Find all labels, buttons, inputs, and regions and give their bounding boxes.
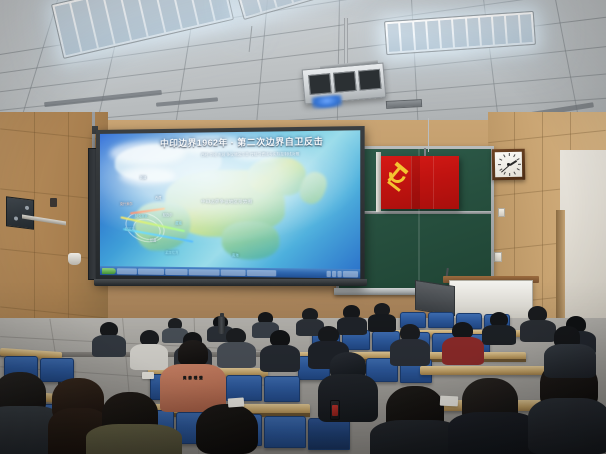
- power-outlet-lower[interactable]: [494, 252, 502, 262]
- party-flag: [381, 156, 459, 209]
- taskbar-item-3[interactable]: [165, 268, 187, 274]
- map-label-6: 克什米尔: [120, 202, 133, 206]
- map-label-4: 印度: [150, 239, 156, 243]
- smartphone[interactable]: [330, 400, 340, 420]
- notebook-paper[interactable]: [440, 396, 458, 407]
- wall-control-panel[interactable]: [6, 196, 34, 229]
- water-bottle[interactable]: [218, 316, 225, 334]
- taskbar-item-2[interactable]: [138, 268, 164, 274]
- map-label-3: 拉达克: [125, 227, 135, 231]
- taskbar-item-6[interactable]: [247, 269, 277, 276]
- shirt-text-line-3: 真 实 想 法: [168, 376, 218, 381]
- map-label-9: 南海: [232, 254, 239, 258]
- map-label-2: 阿克赛钦: [135, 214, 148, 218]
- system-tray[interactable]: [327, 270, 359, 277]
- clock-hour-hand: [509, 159, 517, 165]
- slide-title: 中印边界1962年 · 第二次边界自卫反击: [160, 134, 323, 148]
- map-label-1: 西藏: [155, 196, 161, 200]
- slide-subtitle: 西段 中段 东段 争议地区示意 传统习惯线与实际控制线对照: [201, 152, 300, 159]
- projected-slide: 新疆 西藏 阿克赛钦 拉达克 印度 藏南 克什米尔 尼泊尔 孟加拉湾 南海 中印…: [100, 130, 360, 278]
- projector-mount-pole: [344, 18, 348, 64]
- flag-hanging-wire: [428, 118, 429, 152]
- wall-clock: [492, 149, 526, 181]
- start-button[interactable]: [102, 268, 116, 274]
- map-label-0: 新疆: [140, 176, 146, 180]
- wall-knob[interactable]: [50, 198, 57, 207]
- taskbar-item-4[interactable]: [189, 269, 220, 276]
- notebook-paper[interactable]: [142, 372, 154, 379]
- lecture-hall-scene: 新疆 西藏 阿克赛钦 拉达克 印度 藏南 克什米尔 尼泊尔 孟加拉湾 南海 中印…: [0, 0, 606, 454]
- hammer-and-sickle-icon: [388, 164, 414, 190]
- seat[interactable]: [428, 312, 454, 328]
- seat[interactable]: [226, 375, 262, 401]
- notebook-paper[interactable]: [228, 397, 245, 407]
- projection-screen: 新疆 西藏 阿克赛钦 拉达克 印度 藏南 克什米尔 尼泊尔 孟加拉湾 南海 中印…: [96, 126, 365, 286]
- clock-face: [495, 152, 522, 177]
- map-label-7: 尼泊尔: [163, 213, 173, 217]
- slide-center-caption: 中印边界争议地区形势图: [201, 199, 252, 205]
- seat[interactable]: [264, 376, 300, 402]
- taskbar-item-5[interactable]: [221, 269, 246, 275]
- far-wall: [560, 150, 606, 340]
- screen-bottom-weight-bar: [94, 279, 367, 286]
- security-camera-icon: [68, 253, 81, 265]
- windows-taskbar[interactable]: [100, 266, 360, 279]
- map-label-5: 藏南: [175, 222, 182, 226]
- map-label-8: 孟加拉湾: [165, 250, 178, 254]
- taskbar-item-1[interactable]: [117, 268, 137, 274]
- seat[interactable]: [308, 418, 350, 450]
- power-outlet-upper[interactable]: [498, 208, 505, 217]
- seat[interactable]: [264, 416, 306, 448]
- podium-side-panel: [415, 280, 455, 316]
- desk: [420, 366, 550, 375]
